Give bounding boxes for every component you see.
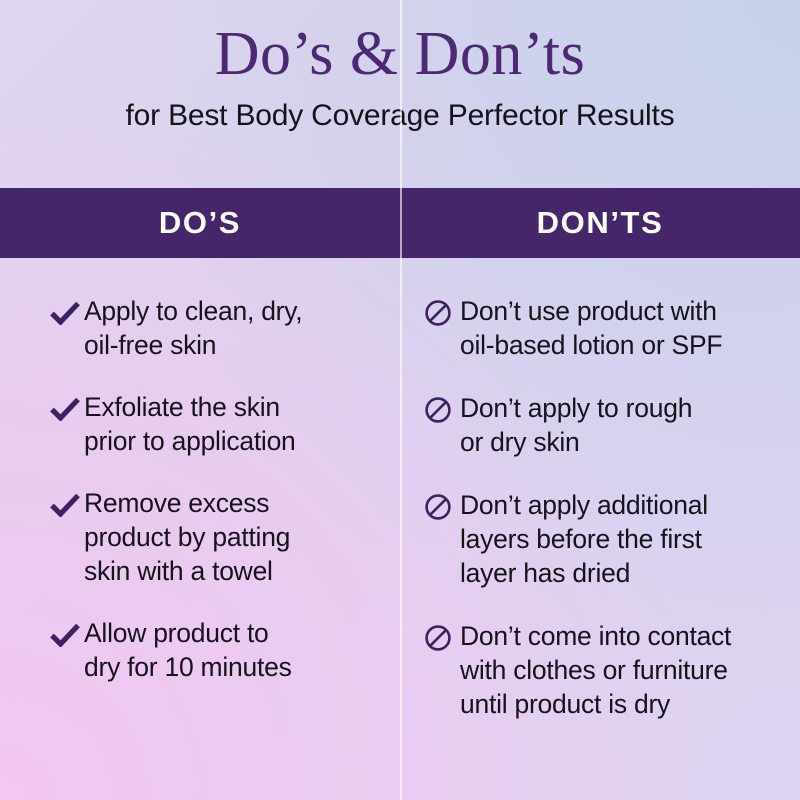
- donts-column-heading: DON’TS: [537, 205, 664, 241]
- dos-item-text: Allow product to dry for 10 minutes: [84, 616, 292, 684]
- donts-list-item: Don’t use product with oil-based lotion …: [424, 294, 786, 362]
- check-icon: [50, 397, 84, 421]
- dos-column: Apply to clean, dry, oil-free skin Exfol…: [0, 258, 400, 800]
- dos-list-item: Exfoliate the skin prior to application: [50, 390, 382, 458]
- dos-list-item: Allow product to dry for 10 minutes: [50, 616, 382, 684]
- donts-item-text: Don’t come into contact with clothes or …: [460, 619, 731, 721]
- check-icon: [50, 493, 84, 517]
- dos-item-text: Exfoliate the skin prior to application: [84, 390, 296, 458]
- check-icon: [50, 301, 84, 325]
- donts-item-text: Don’t use product with oil-based lotion …: [460, 294, 722, 362]
- donts-item-text: Don’t apply to rough or dry skin: [460, 391, 692, 459]
- donts-item-text: Don’t apply additional layers before the…: [460, 488, 708, 590]
- dos-list-item: Apply to clean, dry, oil-free skin: [50, 294, 382, 362]
- check-icon: [50, 623, 84, 647]
- banner-cell-dos: DO’S: [0, 188, 400, 258]
- dos-item-text: Remove excess product by patting skin wi…: [84, 486, 290, 588]
- banner-cell-donts: DON’TS: [400, 188, 800, 258]
- donts-column: Don’t use product with oil-based lotion …: [400, 258, 800, 800]
- prohibition-icon: [424, 299, 460, 327]
- prohibition-icon: [424, 396, 460, 424]
- dos-list-item: Remove excess product by patting skin wi…: [50, 486, 382, 588]
- donts-list-item: Don’t apply additional layers before the…: [424, 488, 786, 590]
- donts-list-item: Don’t come into contact with clothes or …: [424, 619, 786, 721]
- dos-column-heading: DO’S: [159, 205, 241, 241]
- dos-and-donts-infographic: Do’s & Don’ts for Best Body Coverage Per…: [0, 0, 800, 800]
- prohibition-icon: [424, 624, 460, 652]
- donts-list-item: Don’t apply to rough or dry skin: [424, 391, 786, 459]
- prohibition-icon: [424, 493, 460, 521]
- dos-item-text: Apply to clean, dry, oil-free skin: [84, 294, 302, 362]
- column-divider: [400, 0, 402, 800]
